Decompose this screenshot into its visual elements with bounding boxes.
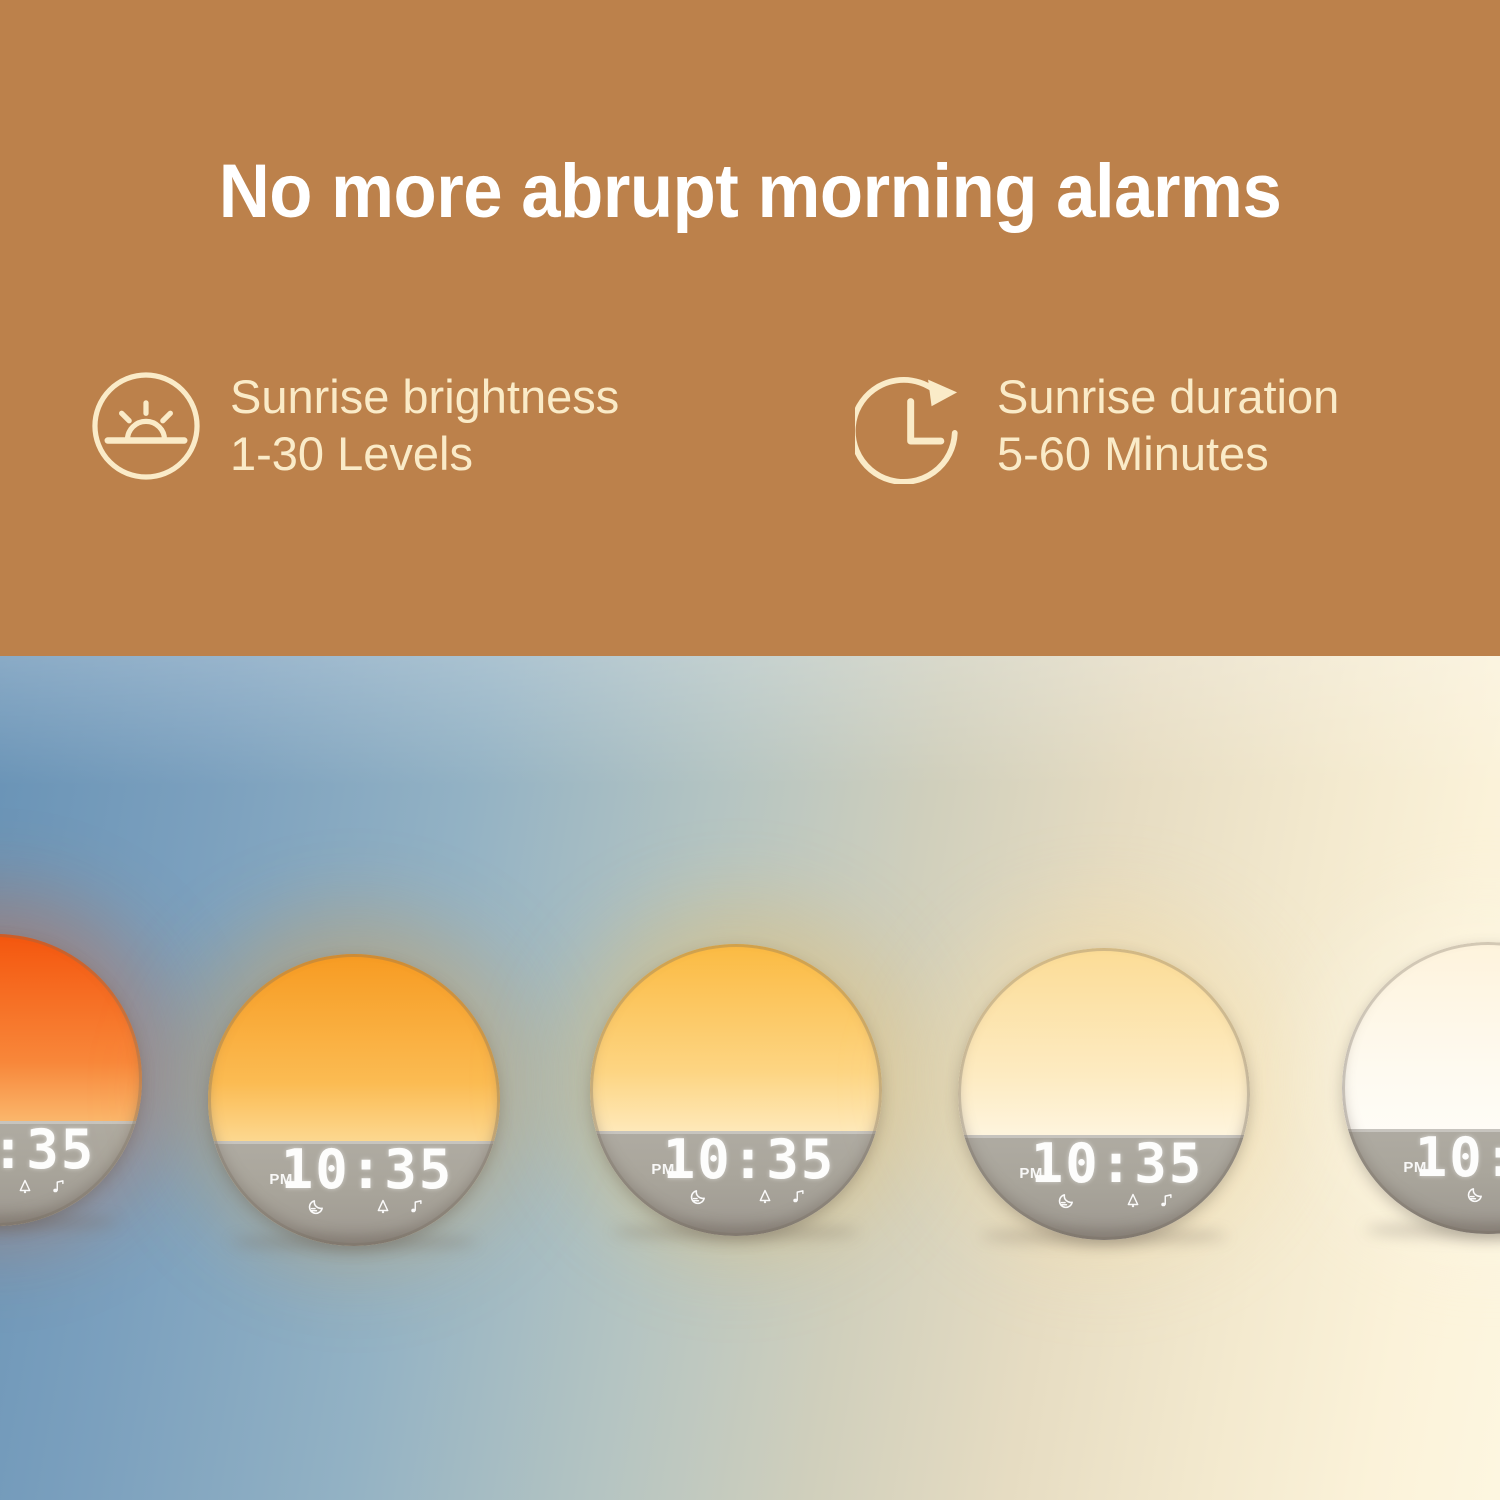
feature-line-2: 5-60 Minutes [997,425,1339,482]
scene-top-fade [0,656,1500,786]
clock-body: PM10:35 [0,934,142,1226]
feature-line-2: 1-30 Levels [230,425,619,482]
clock-shadow [981,1228,1226,1244]
feature-list: Sunrise brightness 1-30 Levels Sunrise d… [0,366,1500,496]
clock-rim [958,948,1250,1240]
sunrise-clock-4: PM10:35 [958,948,1250,1240]
feature-text: Sunrise brightness 1-30 Levels [230,366,619,482]
clock-body: PM10:35 [208,954,500,1246]
feature-sunrise-duration: Sunrise duration 5-60 Minutes [855,366,1339,496]
feature-line-1: Sunrise brightness [230,370,619,423]
promo-page: No more abrupt morning alarms Sunrise br… [0,0,1500,1500]
clock-shadow [613,1224,858,1240]
sunrise-clock-1: PM10:35 [0,934,142,1226]
promo-header-panel: No more abrupt morning alarms Sunrise br… [0,0,1500,656]
page-title: No more abrupt morning alarms [53,148,1448,235]
clock-shadow [231,1234,476,1250]
clock-duration-icon [855,368,971,484]
sunrise-icon [88,368,204,484]
clock-body: PM10:35 [590,944,882,1236]
sunrise-clock-5: PM10:35 [1342,942,1500,1234]
feature-text: Sunrise duration 5-60 Minutes [997,366,1339,482]
feature-line-1: Sunrise duration [997,370,1339,423]
clock-body: PM10:35 [958,948,1250,1240]
clock-rim [208,954,500,1246]
clock-body: PM10:35 [1342,942,1500,1234]
sunrise-clock-3: PM10:35 [590,944,882,1236]
sunrise-demo-scene: PM10:35 PM10:35 PM10:35 PM10:35 PM10:35 [0,656,1500,1500]
feature-sunrise-brightness: Sunrise brightness 1-30 Levels [88,366,619,496]
clock-rim [590,944,882,1236]
sunrise-clock-2: PM10:35 [208,954,500,1246]
